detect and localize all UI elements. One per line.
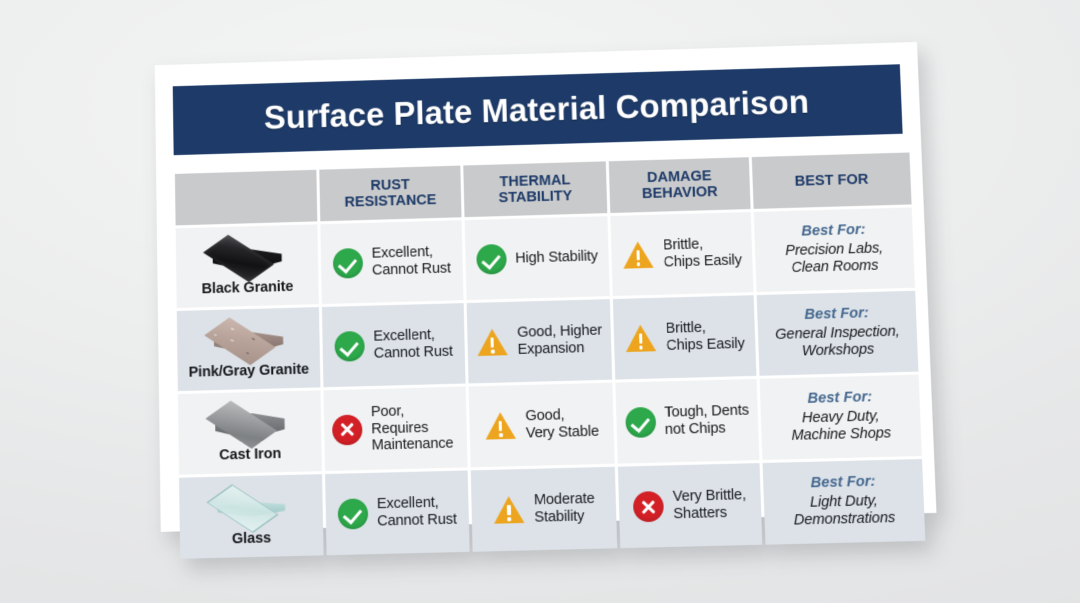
- column-header-damage-behavior: DAMAGEBEHAVIOR: [609, 157, 751, 213]
- material-cell: Cast Iron: [178, 390, 322, 474]
- best-for-cell: Best For:Light Duty,Demonstrations: [763, 459, 926, 545]
- check-icon: [476, 244, 507, 275]
- rating-text: Poor, RequiresMaintenance: [371, 401, 459, 455]
- title-bar: Surface Plate Material Comparison: [173, 64, 903, 155]
- check-icon: [334, 331, 365, 362]
- best-for-label: Best For:: [769, 473, 917, 494]
- rating-text: Very Brittle,Shatters: [673, 487, 747, 523]
- cross-icon: [633, 491, 664, 522]
- warning-icon: [624, 324, 657, 354]
- column-header-material: [175, 170, 317, 226]
- check-icon: [338, 498, 369, 529]
- card-surface: Surface Plate Material Comparison RUSTRE…: [155, 42, 937, 532]
- rating-text: Brittle,Chips Easily: [665, 319, 745, 355]
- column-header-thermal-stability: THERMALSTABILITY: [463, 161, 607, 217]
- rating-text: High Stability: [515, 248, 598, 267]
- glass-plate: [213, 484, 290, 531]
- best-for-text: Heavy Duty,Machine Shops: [767, 407, 915, 446]
- thermal-stability-cell: High Stability: [465, 216, 610, 300]
- best-for-text: Precision Labs,Clean Rooms: [761, 239, 909, 278]
- damage-behavior-cell: Very Brittle,Shatters: [618, 463, 763, 548]
- material-cell: Pink/Gray Granite: [177, 307, 321, 391]
- black-granite-plate: [209, 234, 285, 280]
- check-icon: [625, 407, 656, 438]
- rating-text: Tough, Dentsnot Chips: [664, 402, 750, 439]
- thermal-stability-cell: Good, HigherExpansion: [467, 299, 613, 383]
- best-for-text: General Inspection,Workshops: [764, 323, 912, 362]
- rust-resistance-cell: Poor, RequiresMaintenance: [323, 387, 467, 471]
- column-header-best-for: BEST FOR: [752, 152, 912, 208]
- rating-text: Brittle,Chips Easily: [663, 235, 742, 271]
- rating-text: ModerateStability: [534, 491, 596, 527]
- material-cell: Black Granite: [176, 224, 319, 308]
- page-title: Surface Plate Material Comparison: [264, 83, 810, 137]
- best-for-text: Light Duty,Demonstrations: [770, 492, 919, 531]
- damage-behavior-cell: Tough, Dentsnot Chips: [615, 379, 759, 464]
- rating-text: Good, HigherExpansion: [517, 323, 603, 359]
- best-for-cell: Best For:Precision Labs,Clean Rooms: [754, 207, 915, 292]
- warning-icon: [484, 411, 517, 441]
- table-row: GlassExcellent,Cannot RustModerateStabil…: [179, 459, 925, 559]
- rust-resistance-cell: Excellent,Cannot Rust: [325, 470, 470, 555]
- best-for-cell: Best For:General Inspection,Workshops: [757, 291, 919, 376]
- thermal-stability-cell: Good,Very Stable: [469, 383, 615, 468]
- comparison-table: RUSTRESISTANCE THERMALSTABILITY DAMAGEBE…: [172, 149, 929, 562]
- comparison-card: Surface Plate Material Comparison RUSTRE…: [155, 42, 937, 532]
- table-row: Pink/Gray GraniteExcellent,Cannot RustGo…: [177, 291, 919, 391]
- damage-behavior-cell: Brittle,Chips Easily: [610, 212, 753, 296]
- rating-text: Good,Very Stable: [525, 406, 599, 442]
- warning-icon: [622, 240, 655, 270]
- material-cell: Glass: [179, 474, 324, 559]
- check-icon: [333, 248, 363, 279]
- rating-text: Excellent,Cannot Rust: [373, 327, 453, 363]
- table-row: Cast IronPoor, RequiresMaintenanceGood,V…: [178, 375, 922, 475]
- rating-text: Excellent,Cannot Rust: [372, 244, 451, 280]
- pink-gray-granite-plate: [210, 317, 286, 363]
- column-header-rust-resistance: RUSTRESISTANCE: [319, 166, 461, 222]
- rating-text: Excellent,Cannot Rust: [377, 494, 457, 530]
- table-body: Black GraniteExcellent,Cannot RustHigh S…: [176, 207, 926, 558]
- warning-icon: [492, 495, 525, 525]
- thermal-stability-cell: ModerateStability: [471, 467, 618, 552]
- cast-iron-plate: [211, 400, 288, 446]
- best-for-cell: Best For:Heavy Duty,Machine Shops: [760, 375, 922, 460]
- rust-resistance-cell: Excellent,Cannot Rust: [322, 303, 466, 387]
- rust-resistance-cell: Excellent,Cannot Rust: [320, 220, 463, 304]
- cross-icon: [332, 414, 363, 445]
- warning-icon: [476, 328, 509, 358]
- damage-behavior-cell: Brittle,Chips Easily: [613, 295, 757, 379]
